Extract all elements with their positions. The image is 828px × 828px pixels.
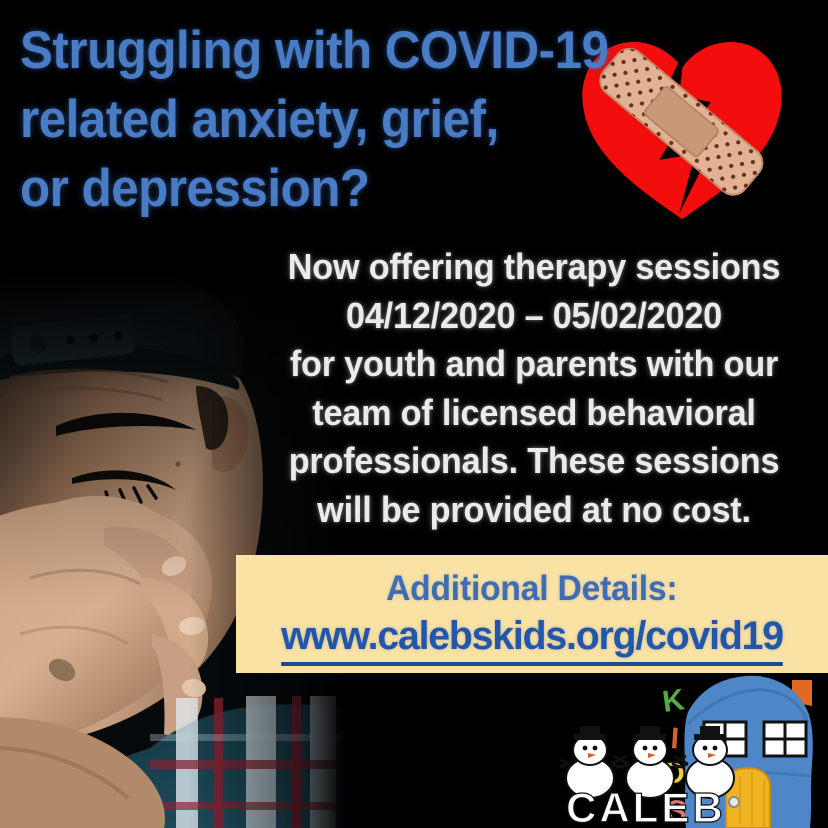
additional-details-label: Additional Details: [386, 567, 677, 611]
headline-line-3: or depression? [20, 154, 615, 223]
house-window-right [764, 722, 806, 756]
caleb-wordmark: CALEB [566, 784, 726, 828]
body-copy: Now offering therapy sessions 04/12/2020… [248, 243, 820, 534]
website-url-link[interactable]: www.calebskids.org/covid19 [281, 611, 783, 666]
body-line-1: Now offering therapy sessions [262, 243, 805, 292]
body-line-2-dates: 04/12/2020 – 05/02/2020 [262, 292, 805, 341]
body-line-6: will be provided at no cost. [262, 486, 805, 535]
body-line-4: team of licensed behavioral [262, 389, 805, 438]
calebs-kids-logo-svg: K I D S [560, 672, 828, 828]
kids-letter-k: K [660, 683, 686, 719]
headline-line-1: Struggling with COVID-19 [20, 16, 615, 85]
additional-details-box: Additional Details: www.calebskids.org/c… [236, 555, 828, 673]
headline: Struggling with COVID-19 related anxiety… [20, 16, 660, 223]
door-knob-icon [729, 797, 739, 807]
kids-letter-i: I [670, 722, 681, 756]
poster-root: Struggling with COVID-19 related anxiety… [0, 0, 828, 828]
calebs-kids-logo[interactable]: K I D S [560, 672, 828, 828]
body-line-3: for youth and parents with our [262, 340, 805, 389]
headline-line-2: related anxiety, grief, [20, 85, 615, 154]
body-line-5: professionals. These sessions [262, 437, 805, 486]
